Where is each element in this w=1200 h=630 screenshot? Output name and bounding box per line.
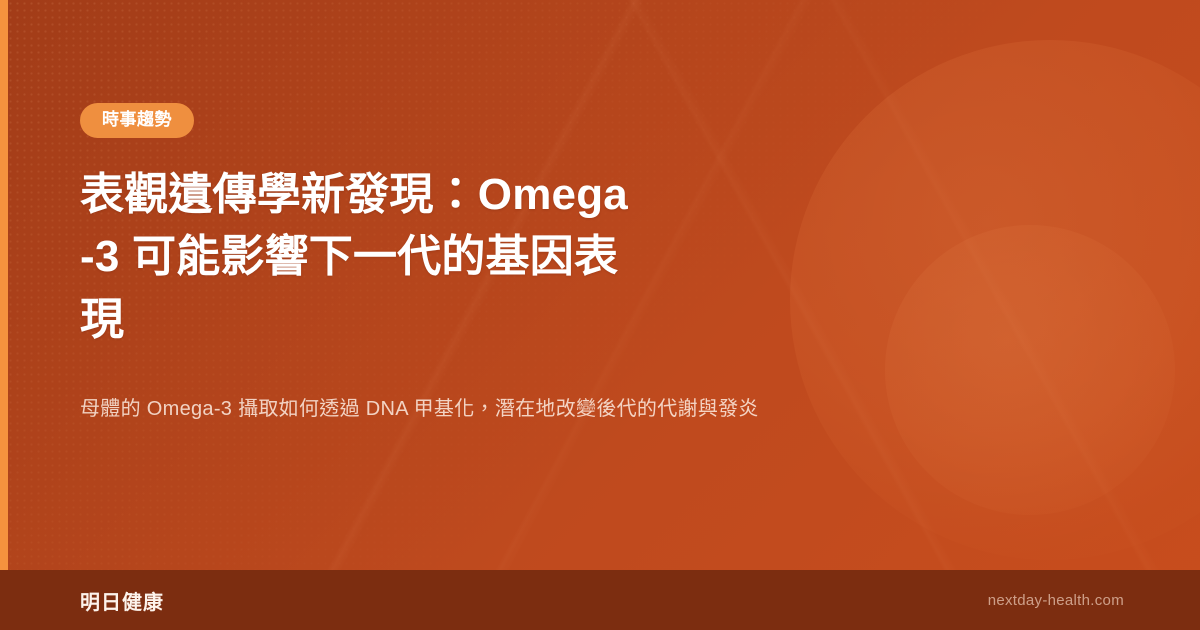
page-title-line-2: -3 可能影響下一代的基因表 — [80, 232, 618, 281]
category-badge[interactable]: 時事趨勢 — [80, 103, 194, 138]
page-subtitle: 母體的 Omega-3 攝取如何透過 DNA 甲基化，潛在地改變後代的代謝與發炎 — [80, 393, 930, 425]
card-content: 時事趨勢 表觀遺傳學新發現：Omega -3 可能影響下一代的基因表 現 母體的… — [80, 0, 980, 425]
page-title: 表觀遺傳學新發現：Omega -3 可能影響下一代的基因表 現 — [80, 164, 705, 351]
footer-domain: nextday-health.com — [988, 592, 1124, 609]
card-footer: 明日健康 nextday-health.com — [0, 570, 1200, 630]
footer-brand-name: 明日健康 — [80, 586, 164, 615]
social-share-card: 時事趨勢 表觀遺傳學新發現：Omega -3 可能影響下一代的基因表 現 母體的… — [0, 0, 1200, 630]
left-accent-bar — [0, 0, 8, 570]
page-title-line-1: 表觀遺傳學新發現：Omega — [80, 170, 628, 219]
page-title-line-3: 現 — [80, 295, 124, 344]
